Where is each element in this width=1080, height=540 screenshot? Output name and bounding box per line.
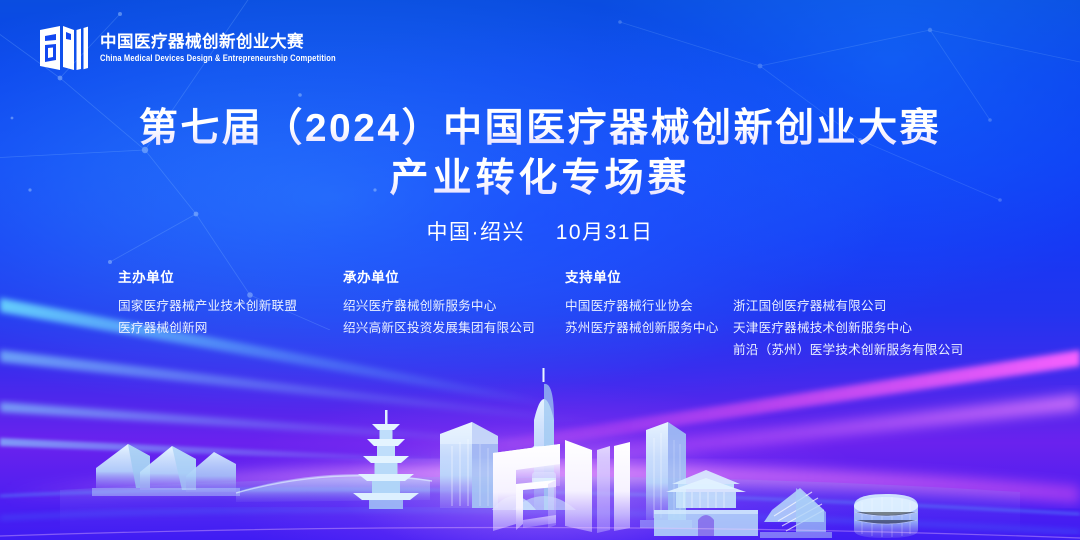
event-location: 中国·绍兴: [427, 221, 526, 244]
organizer-column-supporter-a: 支持单位 中国医疗器械行业协会 苏州医疗器械创新服务中心: [565, 266, 719, 339]
logo-title-en: China Medical Devices Design & Entrepren…: [100, 54, 336, 63]
hero-title-block: 第七届（2024）中国医疗器械创新创业大赛 产业转化专场赛 中国·绍兴 10月3…: [0, 104, 1080, 246]
organizer-item: 绍兴医疗器械创新服务中心: [343, 295, 535, 317]
organizer-item: 苏州医疗器械创新服务中心: [565, 317, 719, 339]
organizer-item: 绍兴高新区投资发展集团有限公司: [343, 317, 535, 339]
organizer-column-coorganizer: 承办单位 绍兴医疗器械创新服务中心 绍兴高新区投资发展集团有限公司: [343, 266, 535, 339]
organizer-heading: 主办单位: [118, 266, 297, 286]
organizer-column-supporter-b: 支持单位 浙江国创医疗器械有限公司 天津医疗器械技术创新服务中心 前沿（苏州）医…: [733, 266, 963, 361]
organizer-item: 中国医疗器械行业协会: [565, 295, 719, 317]
hero-title-line2: 产业转化专场赛: [0, 154, 1080, 204]
organizer-heading: 支持单位: [565, 266, 719, 286]
organizer-item: 前沿（苏州）医学技术创新服务有限公司: [733, 339, 963, 361]
organizer-column-host: 主办单位 国家医疗器械产业技术创新联盟 医疗器械创新网: [118, 266, 297, 339]
competition-logo: 中国医疗器械创新创业大赛 China Medical Devices Desig…: [38, 24, 336, 72]
event-date: 10月31日: [556, 221, 654, 244]
organizers-section: 主办单位 国家医疗器械产业技术创新联盟 医疗器械创新网 承办单位 绍兴医疗器械创…: [0, 266, 1080, 366]
hero-title-line1: 第七届（2024）中国医疗器械创新创业大赛: [0, 104, 1080, 154]
organizer-item: 国家医疗器械产业技术创新联盟: [118, 295, 297, 317]
organizer-item: 医疗器械创新网: [118, 317, 297, 339]
competition-emblem-icon: [38, 24, 90, 72]
logo-title-cn: 中国医疗器械创新创业大赛: [100, 34, 336, 51]
organizer-heading: 承办单位: [343, 266, 535, 286]
organizer-item: 浙江国创医疗器械有限公司: [733, 295, 963, 317]
organizer-item: 天津医疗器械技术创新服务中心: [733, 317, 963, 339]
hero-subtitle: 中国·绍兴 10月31日: [0, 216, 1080, 246]
poster-canvas: 中国医疗器械创新创业大赛 China Medical Devices Desig…: [0, 0, 1080, 540]
